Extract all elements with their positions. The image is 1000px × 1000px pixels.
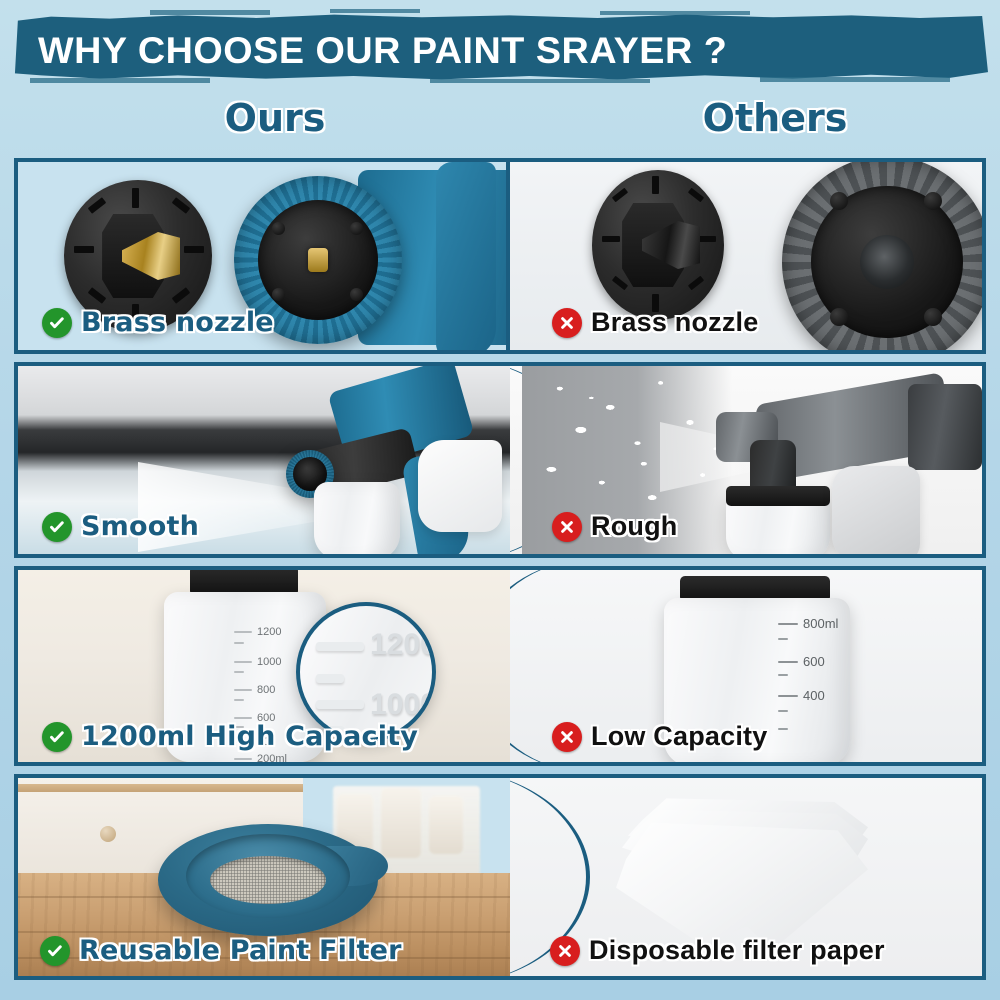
check-icon xyxy=(40,936,70,966)
label-text: Brass nozzle xyxy=(81,307,274,338)
label-others-capacity: Low Capacity xyxy=(552,721,767,752)
paint-cup-white xyxy=(314,482,400,554)
comparison-row-capacity: 1200 1000 800 600 40 xyxy=(14,566,986,766)
row-capacity-ours-panel: 1200 1000 800 600 40 xyxy=(18,570,510,762)
sprayer-nozzle-ring-gray xyxy=(782,162,982,350)
cross-icon xyxy=(552,722,582,752)
gloved-hand xyxy=(418,440,502,532)
nozzle-center-dot xyxy=(860,235,914,289)
label-text: Low Capacity xyxy=(591,721,767,752)
label-text: Smooth xyxy=(81,511,199,542)
label-ours-capacity: 1200ml High Capacity xyxy=(42,721,418,752)
brush-speck xyxy=(330,9,420,13)
cup-graduation-600: 600 xyxy=(778,654,825,669)
label-others-filter: Disposable filter paper xyxy=(550,935,885,966)
disposable-filter-paper-cone xyxy=(616,820,868,950)
label-text: Disposable filter paper xyxy=(589,935,885,966)
label-text: Brass nozzle xyxy=(591,307,758,338)
label-others-finish: Rough xyxy=(552,511,677,542)
row-capacity-others-panel: 800ml 600 400 xyxy=(510,570,982,762)
label-text: Reusable Paint Filter xyxy=(79,935,402,966)
magnifier-value-1200: 1200 xyxy=(370,628,436,662)
row-nozzle-others-panel: Brass nozzle xyxy=(510,162,982,350)
label-ours-filter: Reusable Paint Filter xyxy=(40,935,402,966)
check-icon xyxy=(42,512,72,542)
label-others-nozzle: Brass nozzle xyxy=(552,307,758,338)
cross-icon xyxy=(552,308,582,338)
cup-collar xyxy=(726,486,830,506)
brush-speck xyxy=(600,11,750,15)
row-filter-others-panel: Disposable filter paper xyxy=(510,778,982,976)
label-text: Rough xyxy=(591,511,677,542)
row-finish-others-panel: Rough xyxy=(510,366,982,554)
cup-graduation-400: 400 xyxy=(778,688,825,703)
label-ours-nozzle: Brass nozzle xyxy=(42,307,274,338)
nozzle-disc-plastic xyxy=(592,170,724,320)
comparison-row-nozzle: Brass nozzle xyxy=(14,158,986,354)
label-ours-finish: Smooth xyxy=(42,511,199,542)
brass-tip-dot xyxy=(308,248,328,272)
cup-graduation-minor xyxy=(234,699,244,701)
filter-mesh-screen xyxy=(210,856,326,904)
check-icon xyxy=(42,722,72,752)
column-heading-others: Others xyxy=(690,96,860,140)
row-filter-ours-panel: Reusable Paint Filter xyxy=(18,778,510,976)
sprayer-handle-blue xyxy=(436,162,496,350)
infographic-page: WHY CHOOSE OUR PAINT SRAYER ? Ours Other… xyxy=(0,0,1000,1000)
cross-icon xyxy=(552,512,582,542)
page-title: WHY CHOOSE OUR PAINT SRAYER ? xyxy=(38,30,987,74)
row-nozzle-ours-panel: Brass nozzle xyxy=(18,162,510,350)
battery-pack-gray xyxy=(908,384,982,470)
cup-graduation-minor xyxy=(778,728,788,730)
cup-graduation-minor xyxy=(778,638,788,640)
brush-speck xyxy=(30,78,210,83)
row-finish-ours-panel: Smooth xyxy=(18,366,510,554)
cup-graduation-800: 800 xyxy=(234,684,275,696)
brush-speck xyxy=(760,77,950,82)
cup-graduation-minor xyxy=(234,671,244,673)
brush-speck xyxy=(150,10,270,15)
comparison-row-filter: Reusable Paint Filter Disposable filter … xyxy=(14,774,986,980)
column-heading-ours: Ours xyxy=(205,96,345,140)
comparison-row-finish: Smooth Rough xyxy=(14,362,986,558)
cup-graduation-minor xyxy=(778,710,788,712)
magnifier-value-1000: 1000 xyxy=(370,688,436,722)
cup-graduation-minor xyxy=(778,674,788,676)
cup-graduation-800ml: 800ml xyxy=(778,616,838,631)
check-icon xyxy=(42,308,72,338)
cup-graduation-200ml: 200ml xyxy=(234,753,287,762)
cup-graduation-minor xyxy=(234,642,244,644)
brush-speck xyxy=(430,79,650,83)
header-banner: WHY CHOOSE OUR PAINT SRAYER ? xyxy=(0,8,1000,90)
gloved-hand xyxy=(832,466,920,554)
cross-icon xyxy=(550,936,580,966)
column-headings: Ours Others xyxy=(0,96,1000,152)
label-text: 1200ml High Capacity xyxy=(81,721,418,752)
cup-graduation-1000: 1000 xyxy=(234,656,281,668)
cup-graduation-1200: 1200 xyxy=(234,626,281,638)
